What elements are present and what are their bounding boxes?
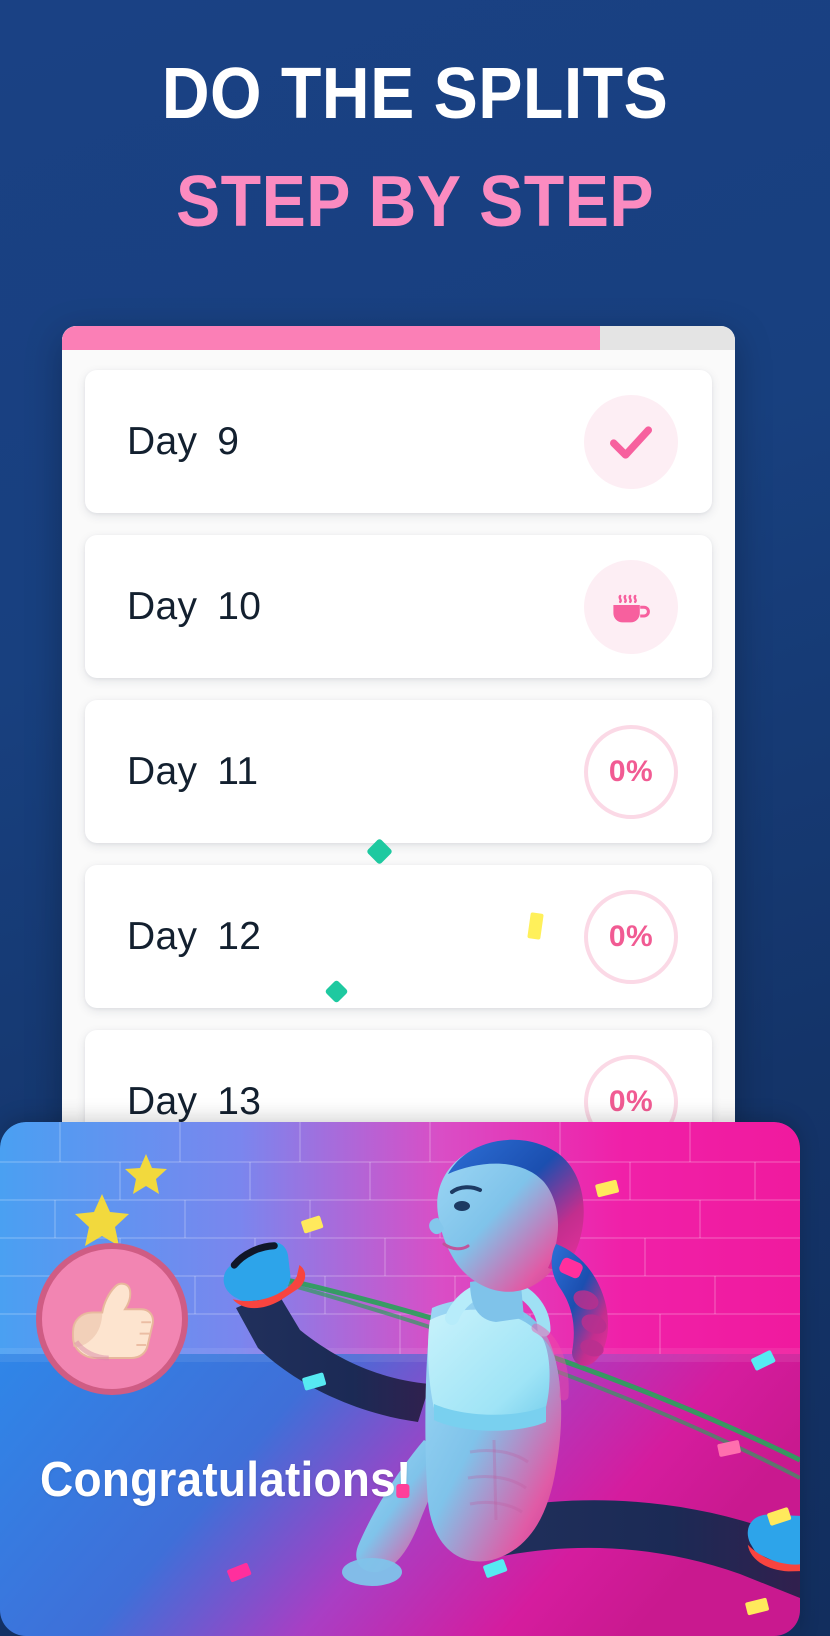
- day-progress-percent: 0%: [609, 1085, 653, 1119]
- thumbs-up-icon: [60, 1267, 164, 1371]
- day-card-label: Day9: [127, 420, 239, 464]
- day-number: 13: [217, 1080, 261, 1123]
- day-number: 9: [217, 420, 239, 463]
- day-card-label: Day12: [127, 915, 261, 959]
- day-card-label: Day10: [127, 585, 261, 629]
- day-status-progress[interactable]: 0%: [584, 725, 678, 819]
- day-word: Day: [127, 750, 197, 793]
- day-word: Day: [127, 915, 197, 958]
- day-status-progress[interactable]: 0%: [584, 890, 678, 984]
- day-word: Day: [127, 420, 197, 463]
- day-card-10[interactable]: Day10: [85, 535, 712, 678]
- course-progress-bar: [62, 326, 735, 350]
- day-word: Day: [127, 585, 197, 628]
- coffee-cup-icon: [607, 583, 655, 631]
- headline-line-2: STEP BY STEP: [33, 166, 797, 238]
- day-list[interactable]: Day9Day10Day110%Day120%Day130%: [62, 350, 735, 1146]
- day-status-completed[interactable]: [584, 395, 678, 489]
- day-card-9[interactable]: Day9: [85, 370, 712, 513]
- exclamation-mark: !: [396, 1453, 412, 1507]
- app-screen-mockup: Day9Day10Day110%Day120%Day130%: [62, 326, 735, 1146]
- congratulations-label: Congratulations: [40, 1453, 396, 1507]
- day-card-label: Day13: [127, 1080, 261, 1124]
- day-card-label: Day11: [127, 750, 258, 794]
- day-word: Day: [127, 1080, 197, 1123]
- thumbs-up-badge: [36, 1243, 188, 1395]
- exclamation-dot: [396, 1484, 409, 1498]
- day-progress-percent: 0%: [609, 920, 653, 954]
- day-number: 10: [217, 585, 261, 628]
- headline-line-1: DO THE SPLITS: [33, 58, 797, 130]
- day-status-rest-day[interactable]: [584, 560, 678, 654]
- day-number: 11: [217, 750, 258, 793]
- day-number: 12: [217, 915, 261, 958]
- day-progress-percent: 0%: [609, 755, 653, 789]
- day-card-11[interactable]: Day110%: [85, 700, 712, 843]
- day-card-12[interactable]: Day120%: [85, 865, 712, 1008]
- page-title: DO THE SPLITS STEP BY STEP: [0, 58, 830, 238]
- check-icon: [605, 416, 657, 468]
- course-progress-fill: [62, 326, 600, 350]
- promo-background: DO THE SPLITS STEP BY STEP Day9Day10Day1…: [0, 0, 830, 1636]
- congratulations-text: Congratulations!: [40, 1452, 410, 1508]
